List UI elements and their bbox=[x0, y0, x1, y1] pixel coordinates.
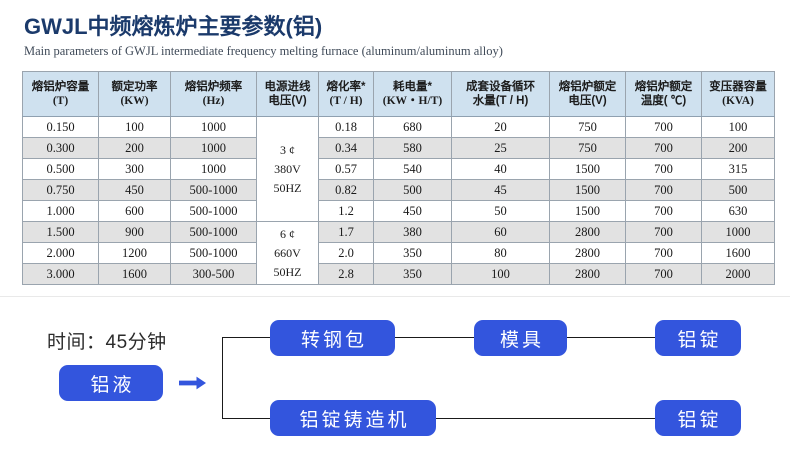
cell-melt-rate: 0.18 bbox=[319, 117, 374, 138]
cell-capacity: 3.000 bbox=[23, 264, 99, 285]
cell-melt-rate: 0.34 bbox=[319, 138, 374, 159]
cell-frequency: 500-1000 bbox=[171, 201, 257, 222]
cell-rated-temp: 700 bbox=[626, 201, 702, 222]
cell-transformer: 200 bbox=[702, 138, 775, 159]
supply-phase: 3 ¢ bbox=[257, 141, 318, 160]
cell-transformer: 630 bbox=[702, 201, 775, 222]
connector-branch-vertical bbox=[222, 337, 223, 419]
column-header-water-unit: 水量(T / H) bbox=[452, 94, 549, 108]
supply-frequency: 50HZ bbox=[257, 179, 318, 198]
cell-capacity: 2.000 bbox=[23, 243, 99, 264]
flow-node-ingot-bottom[interactable]: 铝锭 bbox=[655, 400, 741, 436]
cell-frequency: 1000 bbox=[171, 159, 257, 180]
cell-transformer: 1600 bbox=[702, 243, 775, 264]
column-header-water: 成套设备循环 水量(T / H) bbox=[452, 72, 550, 117]
cell-rated-temp: 700 bbox=[626, 243, 702, 264]
cell-water: 40 bbox=[452, 159, 550, 180]
cell-melt-rate: 2.0 bbox=[319, 243, 374, 264]
table-row: 2.000 1200 500-1000 2.0 350 80 2800 700 … bbox=[23, 243, 775, 264]
column-header-melt-rate: 熔化率* (T / H) bbox=[319, 72, 374, 117]
column-header-supply-voltage-unit: 电压(V) bbox=[257, 94, 318, 108]
cell-water: 45 bbox=[452, 180, 550, 201]
process-flow-diagram: 时间：45分钟 铝液 转钢包 模具 铝锭 铝锭铸造机 铝锭 bbox=[0, 296, 790, 474]
cell-capacity: 0.500 bbox=[23, 159, 99, 180]
flow-node-ingot-top[interactable]: 铝锭 bbox=[655, 320, 741, 356]
cell-frequency: 500-1000 bbox=[171, 180, 257, 201]
column-header-rated-temp: 熔铝炉额定 温度( ℃) bbox=[626, 72, 702, 117]
cell-rated-voltage: 2800 bbox=[550, 243, 626, 264]
cell-melt-rate: 2.8 bbox=[319, 264, 374, 285]
spec-table: 熔铝炉容量 (T) 额定功率 (KW) 熔铝炉频率 (Hz) 电源进线 电压(V… bbox=[22, 71, 775, 285]
cell-frequency: 500-1000 bbox=[171, 243, 257, 264]
flow-node-transfer-ladle-label: 转钢包 bbox=[298, 325, 367, 352]
flow-node-mold-label: 模具 bbox=[497, 325, 544, 352]
flow-node-ingot-casting-machine[interactable]: 铝锭铸造机 bbox=[270, 400, 436, 436]
table-row: 3.000 1600 300-500 2.8 350 100 2800 700 … bbox=[23, 264, 775, 285]
column-header-power-name: 额定功率 bbox=[99, 80, 170, 94]
cell-water: 25 bbox=[452, 138, 550, 159]
column-header-melt-rate-name: 熔化率* bbox=[319, 80, 373, 94]
cell-consumption: 540 bbox=[374, 159, 452, 180]
column-header-rated-temp-unit: 温度( ℃) bbox=[626, 94, 701, 108]
cell-water: 60 bbox=[452, 222, 550, 243]
column-header-capacity: 熔铝炉容量 (T) bbox=[23, 72, 99, 117]
cell-rated-temp: 700 bbox=[626, 159, 702, 180]
cell-frequency: 1000 bbox=[171, 117, 257, 138]
cell-consumption: 380 bbox=[374, 222, 452, 243]
column-header-transformer: 变压器容量 (KVA) bbox=[702, 72, 775, 117]
cell-water: 80 bbox=[452, 243, 550, 264]
column-header-supply-voltage-name: 电源进线 bbox=[257, 80, 318, 94]
page-header: GWJL中频熔炼炉主要参数(铝) Main parameters of GWJL… bbox=[24, 14, 774, 59]
table-row: 0.500 300 1000 0.57 540 40 1500 700 315 bbox=[23, 159, 775, 180]
cell-power: 900 bbox=[99, 222, 171, 243]
cell-rated-temp: 700 bbox=[626, 117, 702, 138]
cell-power: 600 bbox=[99, 201, 171, 222]
cell-water: 50 bbox=[452, 201, 550, 222]
cell-supply-voltage-group-1: 3 ¢ 380V 50HZ bbox=[257, 117, 319, 222]
column-header-melt-rate-unit: (T / H) bbox=[319, 94, 373, 108]
table-row: 0.300 200 1000 0.34 580 25 750 700 200 bbox=[23, 138, 775, 159]
cell-rated-temp: 700 bbox=[626, 180, 702, 201]
cell-capacity: 0.750 bbox=[23, 180, 99, 201]
cell-rated-voltage: 750 bbox=[550, 117, 626, 138]
connector-mold-to-ingot bbox=[562, 337, 661, 338]
column-header-consumption-unit: (KW・H/T) bbox=[374, 94, 451, 108]
cell-consumption: 680 bbox=[374, 117, 452, 138]
cell-capacity: 0.300 bbox=[23, 138, 99, 159]
supply-phase: 6 ¢ bbox=[257, 225, 318, 244]
table-row: 0.150 100 1000 3 ¢ 380V 50HZ 0.18 680 20… bbox=[23, 117, 775, 138]
page-subtitle: Main parameters of GWJL intermediate fre… bbox=[24, 44, 774, 59]
column-header-consumption: 耗电量* (KW・H/T) bbox=[374, 72, 452, 117]
cell-supply-voltage-group-2: 6 ¢ 660V 50HZ bbox=[257, 222, 319, 285]
cell-capacity: 0.150 bbox=[23, 117, 99, 138]
cell-melt-rate: 1.2 bbox=[319, 201, 374, 222]
flow-node-ingot-casting-machine-label: 铝锭铸造机 bbox=[296, 405, 409, 432]
connector-caster-to-ingot bbox=[431, 418, 661, 419]
table-row: 1.000 600 500-1000 1.2 450 50 1500 700 6… bbox=[23, 201, 775, 222]
cell-transformer: 315 bbox=[702, 159, 775, 180]
arrow-right-icon bbox=[179, 376, 207, 390]
page-title: GWJL中频熔炼炉主要参数(铝) bbox=[24, 14, 774, 40]
cell-melt-rate: 0.82 bbox=[319, 180, 374, 201]
cell-consumption: 580 bbox=[374, 138, 452, 159]
cell-rated-voltage: 2800 bbox=[550, 264, 626, 285]
cell-power: 200 bbox=[99, 138, 171, 159]
table-row: 1.500 900 500-1000 6 ¢ 660V 50HZ 1.7 380… bbox=[23, 222, 775, 243]
cell-rated-voltage: 1500 bbox=[550, 180, 626, 201]
flow-node-mold[interactable]: 模具 bbox=[474, 320, 567, 356]
cell-power: 450 bbox=[99, 180, 171, 201]
table-row: 0.750 450 500-1000 0.82 500 45 1500 700 … bbox=[23, 180, 775, 201]
cell-consumption: 450 bbox=[374, 201, 452, 222]
column-header-transformer-unit: (KVA) bbox=[702, 94, 774, 108]
cell-capacity: 1.000 bbox=[23, 201, 99, 222]
cell-power: 300 bbox=[99, 159, 171, 180]
cell-transformer: 1000 bbox=[702, 222, 775, 243]
column-header-rated-temp-name: 熔铝炉额定 bbox=[626, 80, 701, 94]
column-header-water-name: 成套设备循环 bbox=[452, 80, 549, 94]
flow-node-ingot-bottom-label: 铝锭 bbox=[674, 405, 721, 432]
cell-rated-temp: 700 bbox=[626, 138, 702, 159]
spec-table-container: 熔铝炉容量 (T) 额定功率 (KW) 熔铝炉频率 (Hz) 电源进线 电压(V… bbox=[22, 71, 774, 285]
flow-node-ingot-top-label: 铝锭 bbox=[674, 325, 721, 352]
flow-node-aluminum-liquid[interactable]: 铝液 bbox=[59, 365, 163, 401]
table-header-row: 熔铝炉容量 (T) 额定功率 (KW) 熔铝炉频率 (Hz) 电源进线 电压(V… bbox=[23, 72, 775, 117]
cell-frequency: 500-1000 bbox=[171, 222, 257, 243]
cell-rated-temp: 700 bbox=[626, 222, 702, 243]
cell-power: 100 bbox=[99, 117, 171, 138]
column-header-rated-voltage-unit: 电压(V) bbox=[550, 94, 625, 108]
cell-consumption: 350 bbox=[374, 243, 452, 264]
supply-frequency: 50HZ bbox=[257, 263, 318, 282]
cell-consumption: 350 bbox=[374, 264, 452, 285]
cell-melt-rate: 0.57 bbox=[319, 159, 374, 180]
column-header-rated-voltage: 熔铝炉额定 电压(V) bbox=[550, 72, 626, 117]
cell-frequency: 1000 bbox=[171, 138, 257, 159]
cell-power: 1200 bbox=[99, 243, 171, 264]
supply-voltage: 660V bbox=[257, 244, 318, 263]
cell-rated-temp: 700 bbox=[626, 264, 702, 285]
column-header-supply-voltage: 电源进线 电压(V) bbox=[257, 72, 319, 117]
column-header-frequency: 熔铝炉频率 (Hz) bbox=[171, 72, 257, 117]
column-header-power: 额定功率 (KW) bbox=[99, 72, 171, 117]
flow-node-aluminum-liquid-label: 铝液 bbox=[87, 370, 134, 397]
cell-transformer: 500 bbox=[702, 180, 775, 201]
column-header-frequency-unit: (Hz) bbox=[171, 94, 256, 108]
cell-consumption: 500 bbox=[374, 180, 452, 201]
column-header-frequency-name: 熔铝炉频率 bbox=[171, 80, 256, 94]
column-header-rated-voltage-name: 熔铝炉额定 bbox=[550, 80, 625, 94]
cell-power: 1600 bbox=[99, 264, 171, 285]
column-header-power-unit: (KW) bbox=[99, 94, 170, 108]
cell-rated-voltage: 1500 bbox=[550, 201, 626, 222]
cell-transformer: 100 bbox=[702, 117, 775, 138]
cell-capacity: 1.500 bbox=[23, 222, 99, 243]
cell-transformer: 2000 bbox=[702, 264, 775, 285]
column-header-consumption-name: 耗电量* bbox=[374, 80, 451, 94]
cell-rated-voltage: 750 bbox=[550, 138, 626, 159]
cell-water: 100 bbox=[452, 264, 550, 285]
connector-ladle-to-mold bbox=[390, 337, 480, 338]
cell-water: 20 bbox=[452, 117, 550, 138]
cell-rated-voltage: 2800 bbox=[550, 222, 626, 243]
process-time-label: 时间：45分钟 bbox=[47, 327, 167, 354]
cell-frequency: 300-500 bbox=[171, 264, 257, 285]
column-header-transformer-name: 变压器容量 bbox=[702, 80, 774, 94]
supply-voltage: 380V bbox=[257, 160, 318, 179]
cell-melt-rate: 1.7 bbox=[319, 222, 374, 243]
flow-node-transfer-ladle[interactable]: 转钢包 bbox=[270, 320, 395, 356]
column-header-capacity-name: 熔铝炉容量 bbox=[23, 80, 98, 94]
cell-rated-voltage: 1500 bbox=[550, 159, 626, 180]
column-header-capacity-unit: (T) bbox=[23, 94, 98, 108]
